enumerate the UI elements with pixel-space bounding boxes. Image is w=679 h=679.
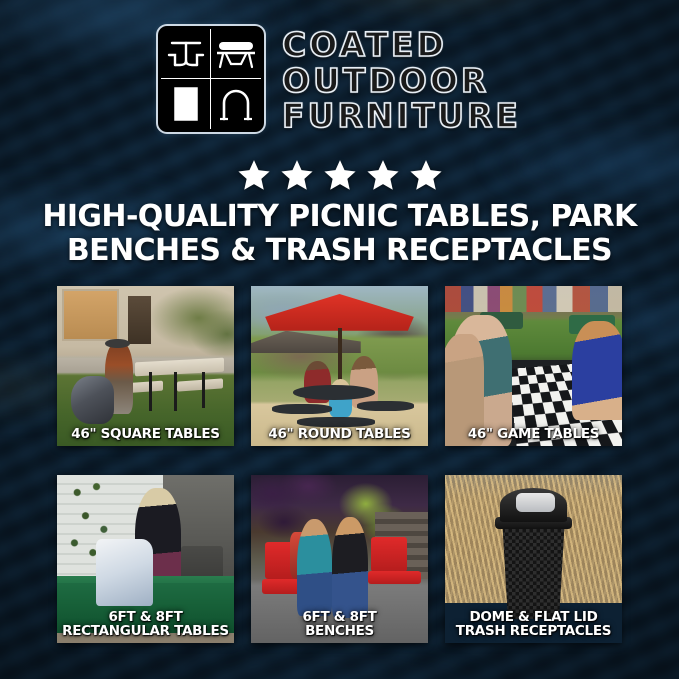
product-category-grid: 46" SQUARE TABLES 46": [57, 286, 622, 643]
logo-word-outdoor: OUTDOOR: [282, 64, 521, 98]
headline: HIGH-QUALITY PICNIC TABLES, PARK BENCHES…: [0, 200, 679, 267]
logo-icon-grid: [158, 26, 264, 132]
logo-wordmark: COATED OUTDOOR FURNITURE: [282, 26, 521, 133]
product-tile-caption: 46" SQUARE TABLES: [57, 427, 234, 442]
product-tile-caption: 46" ROUND TABLES: [251, 427, 428, 442]
brand-logo: COATED OUTDOOR FURNITURE: [0, 26, 679, 133]
caption-line-2: TRASH RECEPTACLES: [449, 624, 618, 639]
picnic-table-icon: [161, 29, 211, 79]
trash-receptacle-icon: [161, 79, 211, 129]
star-icon: [409, 158, 443, 192]
bike-rack-arch-icon: [211, 79, 261, 129]
logo-word-coated: COATED: [282, 28, 521, 62]
product-tile-game-tables[interactable]: 46" GAME TABLES: [445, 286, 622, 446]
caption-line-1: 46" ROUND TABLES: [255, 427, 424, 442]
headline-line-1: HIGH-QUALITY PICNIC TABLES, PARK: [24, 200, 655, 234]
headline-line-2: BENCHES & TRASH RECEPTACLES: [24, 234, 655, 268]
product-tile-trash-receptacles[interactable]: DOME & FLAT LID TRASH RECEPTACLES: [445, 475, 622, 643]
rating-stars: [0, 158, 679, 192]
park-bench-icon: [211, 29, 261, 79]
product-tile-caption: 6FT & 8FT BENCHES: [251, 610, 428, 639]
star-icon: [323, 158, 357, 192]
star-icon: [237, 158, 271, 192]
product-tile-rectangular-tables[interactable]: 6FT & 8FT RECTANGULAR TABLES: [57, 475, 234, 643]
product-photo-square-tables: [57, 286, 234, 446]
star-icon: [366, 158, 400, 192]
product-photo-round-tables: [251, 286, 428, 446]
caption-line-1: 46" SQUARE TABLES: [61, 427, 230, 442]
logo-word-furniture: FURNITURE: [282, 99, 521, 133]
caption-line-2: RECTANGULAR TABLES: [61, 624, 230, 639]
product-tile-caption: 6FT & 8FT RECTANGULAR TABLES: [57, 610, 234, 639]
product-tile-benches[interactable]: 6FT & 8FT BENCHES: [251, 475, 428, 643]
product-poster: COATED OUTDOOR FURNITURE HIGH-QUALITY PI…: [0, 0, 679, 679]
product-photo-game-tables: [445, 286, 622, 446]
caption-line-2: BENCHES: [255, 624, 424, 639]
product-tile-caption: 46" GAME TABLES: [445, 427, 622, 442]
product-tile-square-tables[interactable]: 46" SQUARE TABLES: [57, 286, 234, 446]
product-tile-round-tables[interactable]: 46" ROUND TABLES: [251, 286, 428, 446]
product-tile-caption: DOME & FLAT LID TRASH RECEPTACLES: [445, 610, 622, 639]
star-icon: [280, 158, 314, 192]
caption-line-1: 46" GAME TABLES: [449, 427, 618, 442]
